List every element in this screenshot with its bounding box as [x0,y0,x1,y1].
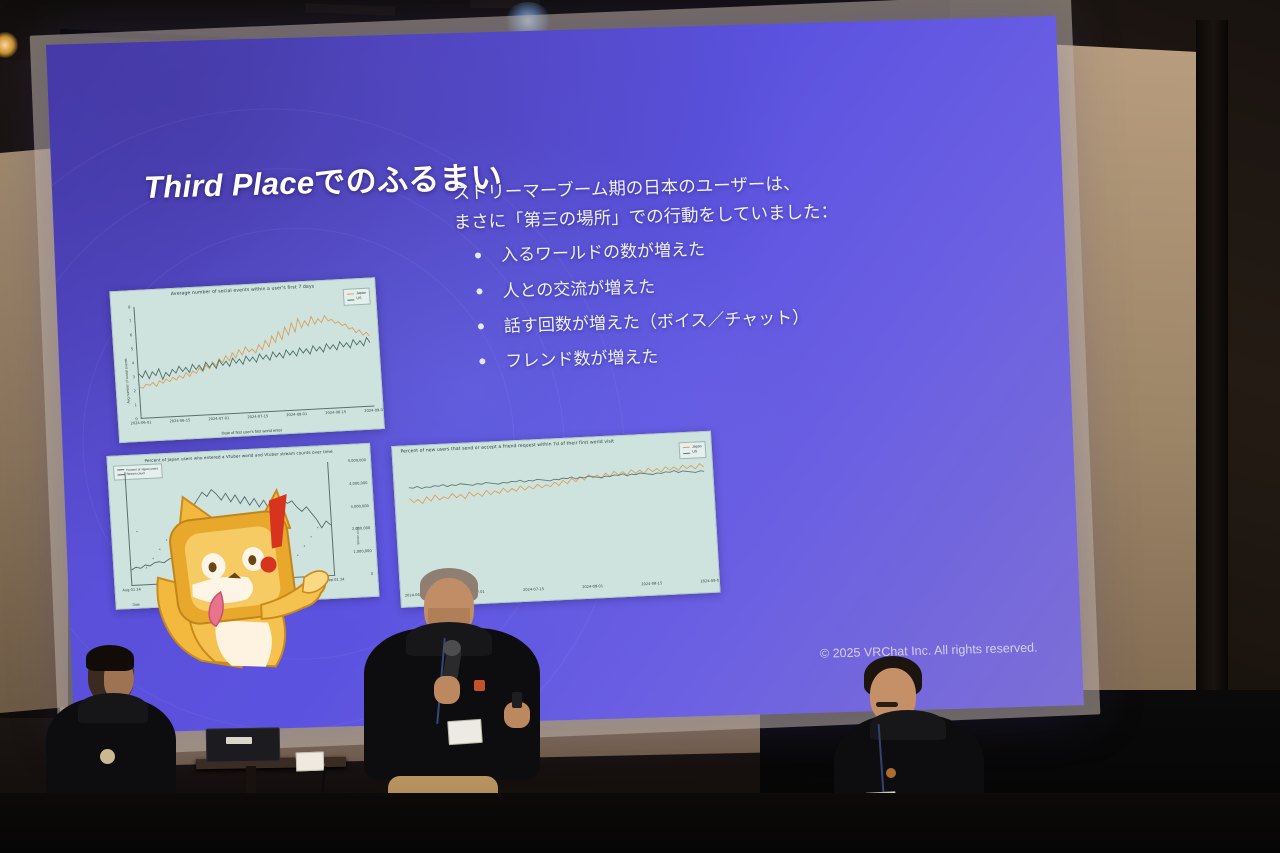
conference-photo: Third Placeでのふるまい ストリーマーブーム期の日本のユーザーは、 ま… [0,0,1280,853]
name-card [296,752,325,772]
series-japan [136,313,373,388]
presenter-center-hand-right [434,676,460,704]
y-tick: 5,000,000 [348,458,367,463]
y-tick: 3,000,000 [350,504,369,509]
presenter-center-badge [447,719,483,745]
y-tick: 4 [132,361,135,365]
bullet-list: 入るワールドの数が増えた 人との交流が増えた 話す回数が増えた（ボイス／チャット… [455,228,1020,376]
x-tick: 2024-08-01 [286,412,307,417]
x-tick: 2024-08-15 [325,410,346,415]
series-japan [408,463,705,504]
presenter-center-clicker [512,692,522,708]
presenter-right-mustache [876,702,898,707]
x-tick: 2024-09-01 [700,578,720,583]
series-us [409,469,705,489]
y-tick: 3 [133,375,136,379]
laptop [206,727,281,762]
y-tick: 5 [131,347,134,351]
x-tick: 2024-06-15 [169,418,190,423]
presenter-center-logo-patch [474,680,485,691]
presenter-right-pin [886,768,896,778]
y-tick: 6 [130,333,133,337]
x-tick: 2024-09-01 [364,408,385,413]
y-axis-ticks: 01,000,0002,000,0003,000,0004,000,0005,0… [330,460,373,576]
x-tick: 2024-06-01 [130,420,151,425]
presenter-left-badge [100,749,115,764]
y-tick: 1,000,000 [353,549,372,554]
stage-floor [0,793,1280,853]
bullet-item: 入るワールドの数が増えた [455,228,1016,270]
y-tick: 7 [129,319,132,323]
presenter-left-hood [78,693,148,723]
series-us [137,337,372,380]
laptop-sticker [226,737,252,744]
x-tick: 2024-07-15 [247,414,268,419]
chart-lines [407,446,710,588]
chart-social-events: Average number of social events within a… [109,277,385,443]
x-tick: 2024-07-01 [208,416,229,421]
chart-lines [134,295,374,418]
y-tick: 4,000,000 [349,481,368,486]
projection-screen: Third Placeでのふるまい ストリーマーブーム期の日本のユーザーは、 ま… [60,30,1070,720]
x-tick: 2024-08-01 [582,584,603,589]
presenter-left-hair [86,645,134,671]
bullet-item: フレンド数が増えた [459,334,1020,376]
x-tick: Aug 01 24 [122,587,141,592]
y-tick: 8 [128,305,131,309]
bullet-item: 話す回数が増えた（ボイス／チャット） [457,299,1018,341]
presentation-slide: Third Placeでのふるまい ストリーマーブーム期の日本のユーザーは、 ま… [46,16,1084,735]
slide-title-en: Third Place [143,165,315,205]
x-tick: 2024-08-15 [641,581,662,586]
presenter-center-microphone-head [443,640,461,656]
vrchat-cat-mascot [152,477,335,672]
bullet-item: 人との交流が増えた [456,264,1017,306]
scatter-point [152,558,153,559]
presenter-right-hood [870,710,946,740]
y-tick: 2 [134,389,137,393]
plot-area [133,295,374,419]
scatter-point [136,531,137,532]
slide-body: ストリーマーブーム期の日本のユーザーは、 まさに「第三の場所」での行動をしていま… [452,164,1020,386]
x-axis-label: Date [132,603,139,607]
y-tick: 1 [134,403,137,407]
plot-area [407,446,710,588]
scatter-point [146,567,147,568]
